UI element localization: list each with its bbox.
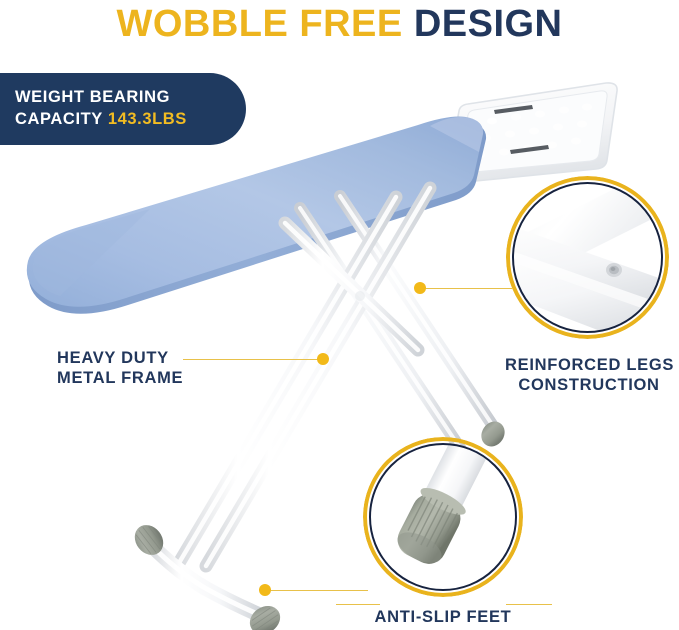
label-frame-line2: METAL FRAME [57, 368, 183, 388]
label-heavy-duty-metal-frame: HEAVY DUTY METAL FRAME [57, 348, 183, 388]
title-highlight: WOBBLE FREE [116, 3, 402, 45]
leader-line-feet-label-right [506, 604, 552, 605]
label-anti-slip-feet: ANTI-SLIP FEET [363, 607, 523, 627]
label-legs-line1: REINFORCED LEGS [505, 355, 673, 375]
leader-line-anti-slip-feet [268, 590, 368, 591]
leader-line-feet-label-left [336, 604, 380, 605]
label-feet-line1: ANTI-SLIP FEET [363, 607, 523, 627]
callout-anti-slip-feet [363, 437, 523, 597]
callout-reinforced-legs [506, 176, 669, 339]
label-legs-line2: CONSTRUCTION [505, 375, 673, 395]
label-reinforced-legs-construction: REINFORCED LEGS CONSTRUCTION [505, 355, 673, 395]
callout-legs-outer-ring [506, 176, 669, 339]
page-title: WOBBLE FREE DESIGN [0, 2, 679, 46]
pointer-dot-anti-slip-feet [259, 584, 271, 596]
pointer-dot-reinforced-legs [414, 282, 426, 294]
bottom-foot-bar [129, 519, 286, 630]
label-frame-line1: HEAVY DUTY [57, 348, 183, 368]
back-foot-cap-right [477, 417, 510, 451]
leader-line-metal-frame [183, 359, 323, 360]
title-secondary: DESIGN [414, 3, 563, 45]
callout-feet-outer-ring [363, 437, 523, 597]
leader-line-reinforced-legs [420, 288, 512, 289]
pointer-dot-metal-frame [317, 353, 329, 365]
ironing-board-graphic [0, 60, 679, 630]
infographic-canvas: WOBBLE FREE DESIGN WEIGHT BEARING CAPACI… [0, 0, 679, 630]
